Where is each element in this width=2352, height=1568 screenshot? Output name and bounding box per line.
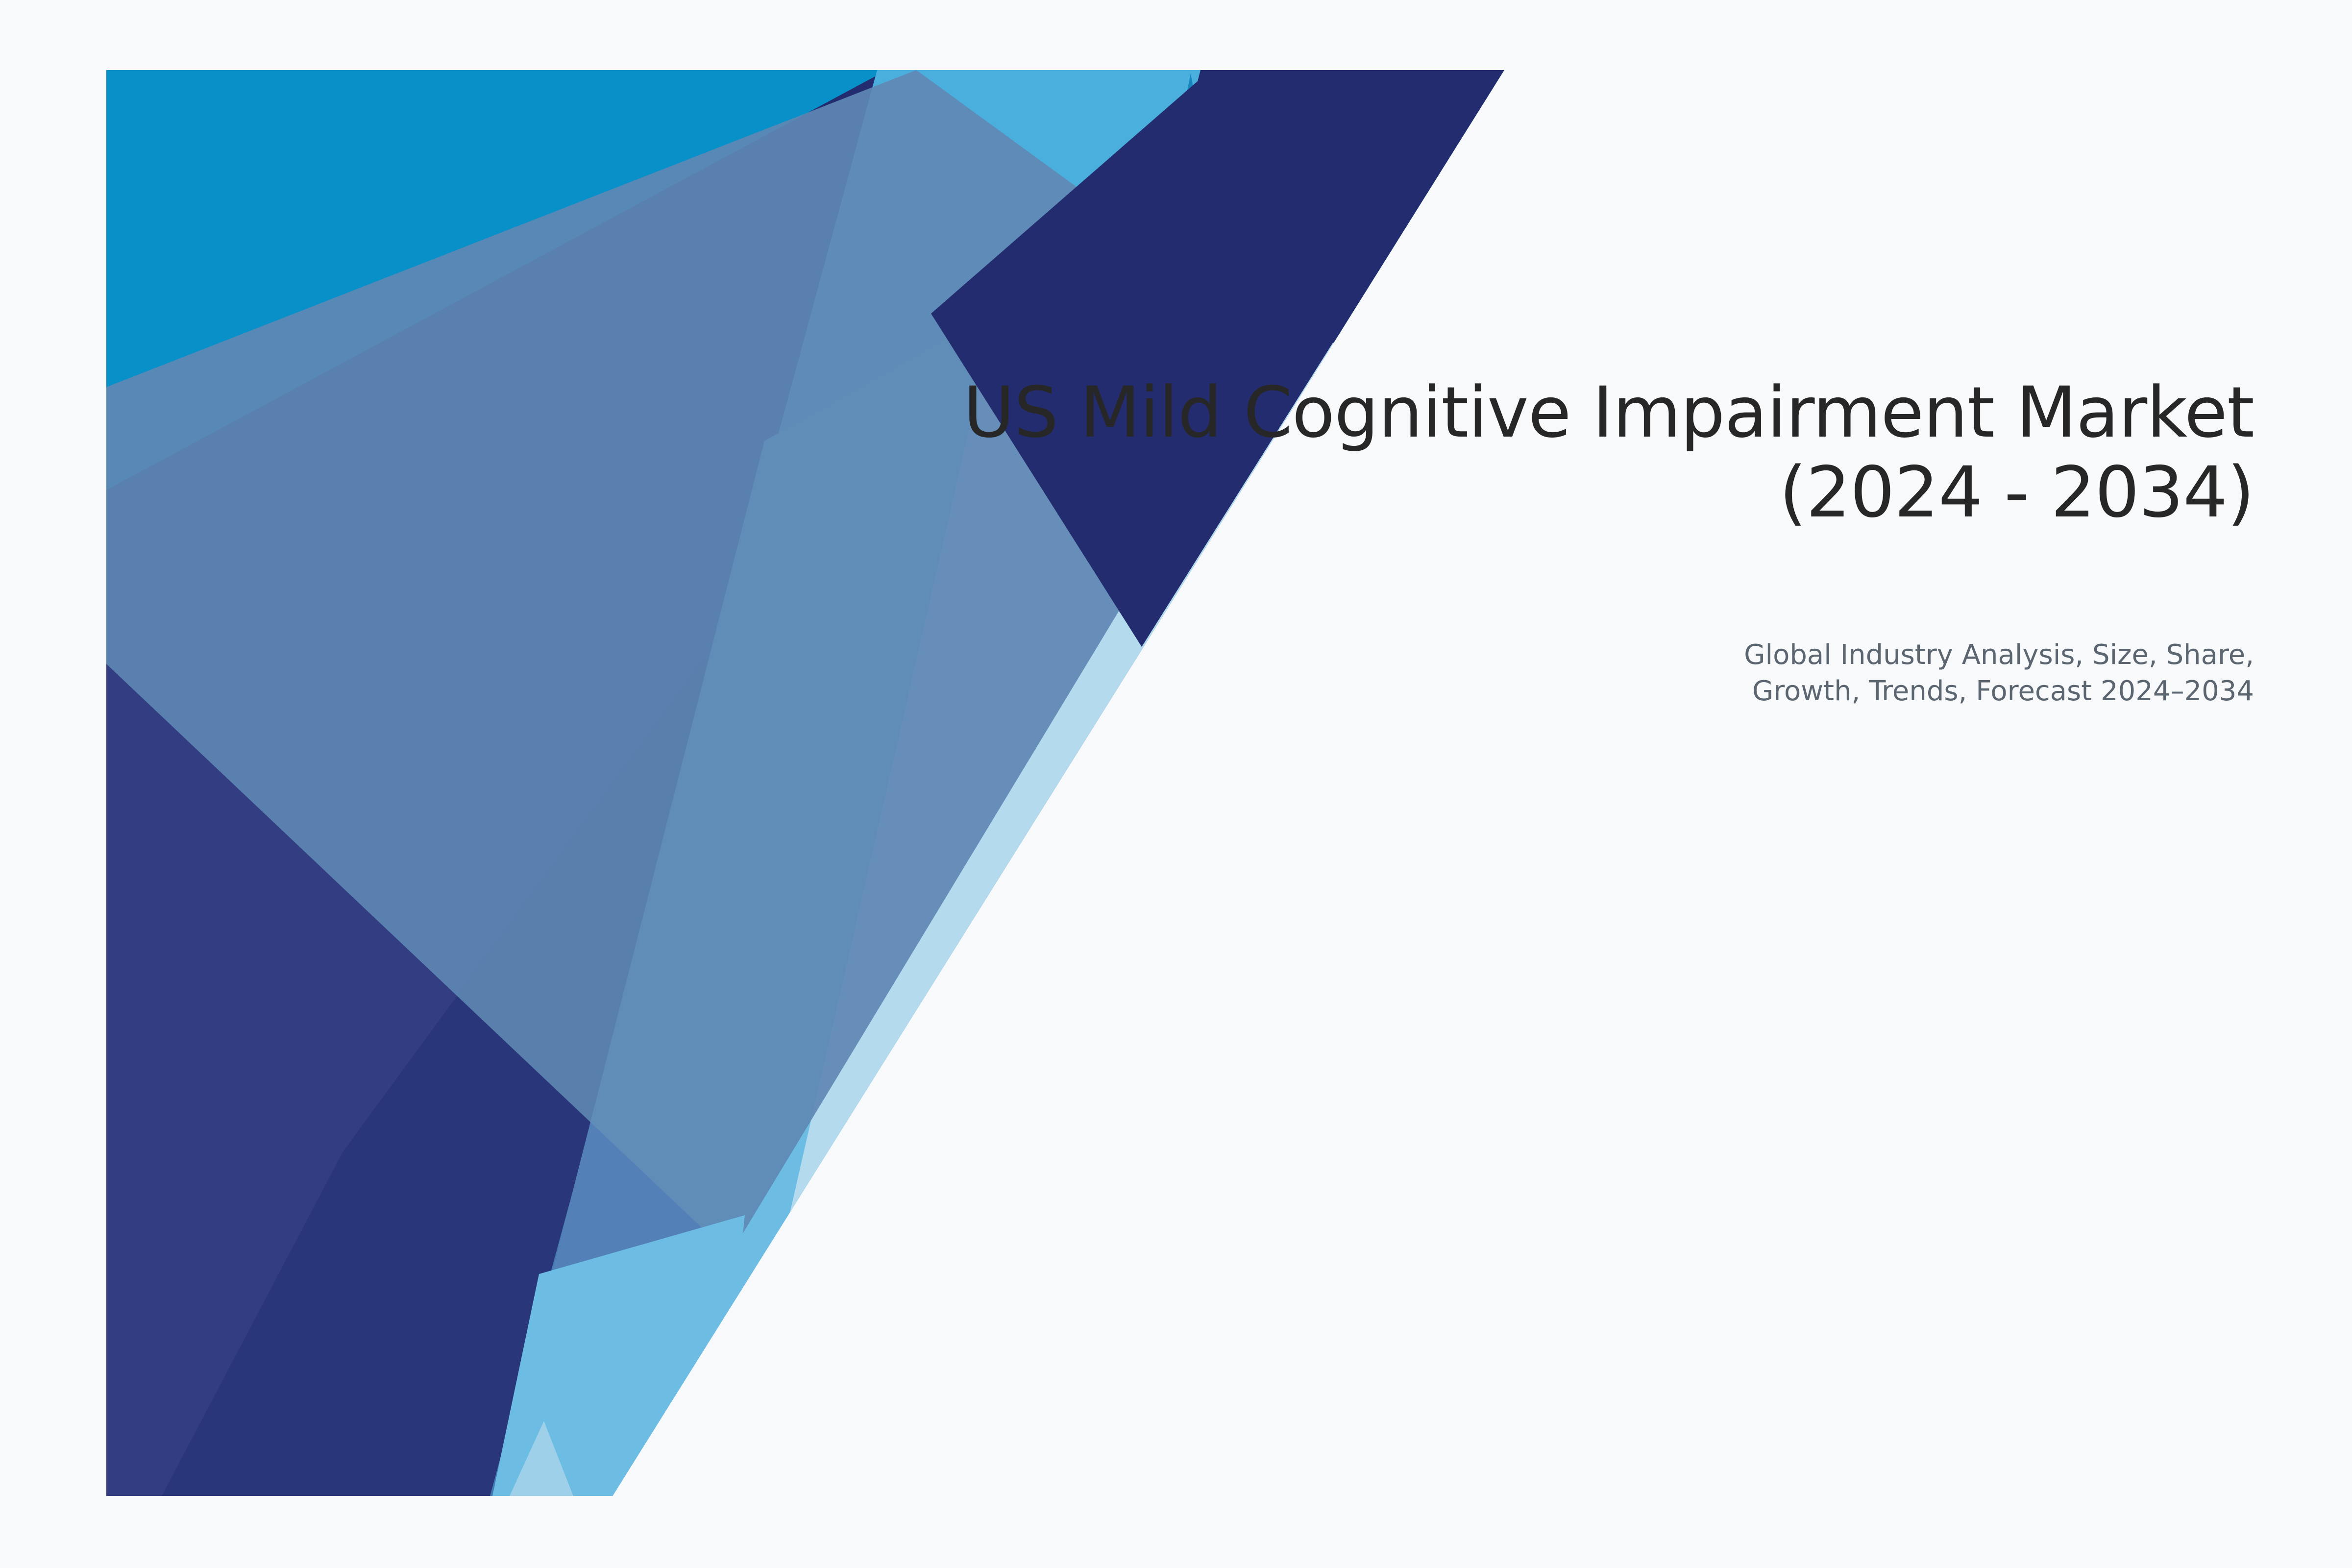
artwork-shape-pale-notch: [510, 1421, 573, 1496]
abstract-artwork-panel: [0, 0, 2352, 1568]
artwork-shape-indigo-wedge: [106, 70, 1504, 1496]
title-block: US Mild Cognitive Impairment Market (202…: [784, 372, 2254, 532]
artwork-shape-navy-triangle-right: [931, 70, 1504, 647]
artwork-shape-steel-blue-overlay: [106, 70, 1284, 1254]
artwork-shape-steel-blue-lower: [106, 664, 730, 1496]
page-title-line-2-inner: (2024 - 2034): [1779, 452, 2254, 532]
artwork-shape-deep-navy-spire: [196, 657, 706, 1496]
subtitle-line-1: Global Industry Analysis, Size, Share,: [1519, 637, 2254, 673]
page-title-line-1: US Mild Cognitive Impairment Market: [784, 372, 2254, 452]
artwork-shape-light-prong: [492, 1215, 745, 1496]
artwork-shape-sky-band: [490, 70, 1200, 1496]
page-title-line-2: (2024 - 2034): [1779, 451, 2254, 533]
artwork-shape-deep-navy-mass: [162, 657, 706, 1496]
subtitle-block: Global Industry Analysis, Size, Share, G…: [1519, 637, 2254, 710]
slide-canvas: US Mild Cognitive Impairment Market (202…: [0, 0, 2352, 1568]
page-title-line-2-wrap: (2024 - 2034): [784, 452, 2254, 532]
artwork-shape-cyan-base: [106, 70, 1508, 1501]
subtitle-line-2: Growth, Trends, Forecast 2024–2034: [1519, 673, 2254, 710]
